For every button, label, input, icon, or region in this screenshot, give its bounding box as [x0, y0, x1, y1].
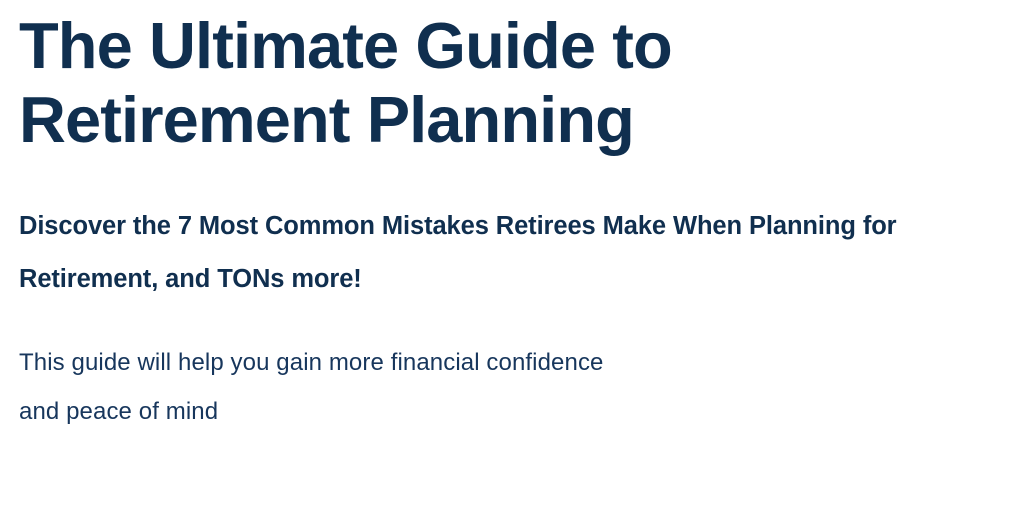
- hero-description: This guide will help you gain more finan…: [19, 306, 879, 436]
- hero-subheading: Discover the 7 Most Common Mistakes Reti…: [19, 157, 1010, 306]
- hero-section: The Ultimate Guide to Retirement Plannin…: [0, 0, 1026, 513]
- page-title: The Ultimate Guide to Retirement Plannin…: [19, 0, 1010, 157]
